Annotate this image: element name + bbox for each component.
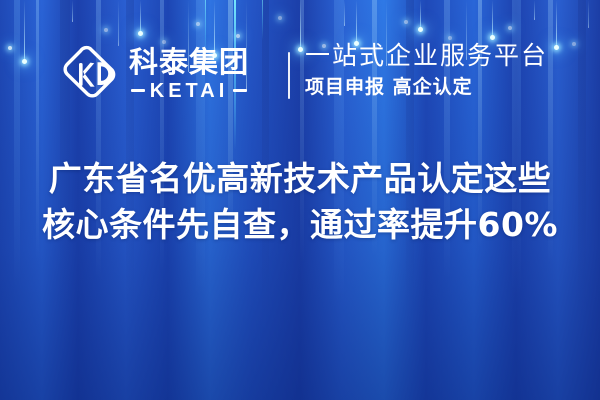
headline-line-1: 广东省名优高新技术产品认定这些 [0, 156, 600, 202]
cyan-accent-line [262, 0, 263, 40]
slogan-main: 一站式企业服务平台 [305, 42, 548, 71]
slogan-block: 一站式企业服务平台 项目申报 高企认定 [305, 42, 548, 99]
brand-name-en: KETAI [150, 81, 229, 101]
banner-header: 科泰集团 KETAI 一站式企业服务平台 项目申报 高企认定 [0, 38, 600, 110]
brand-wordmark: 科泰集团 KETAI [129, 48, 249, 101]
header-divider [288, 52, 290, 99]
wordmark-rule-left [131, 89, 145, 92]
brand-name-cn: 科泰集团 [129, 48, 249, 77]
ketai-kd-monogram-icon [60, 44, 120, 104]
wordmark-rule-right [233, 89, 247, 92]
brand-logo: 科泰集团 KETAI [60, 38, 249, 110]
slogan-sub: 项目申报 高企认定 [305, 76, 548, 99]
headline-line-2: 核心条件先自查，通过率提升60% [0, 202, 600, 248]
brand-name-en-row: KETAI [131, 81, 248, 101]
headline: 广东省名优高新技术产品认定这些 核心条件先自查，通过率提升60% [0, 156, 600, 248]
promo-banner: 科泰集团 KETAI 一站式企业服务平台 项目申报 高企认定 广东省名优高新技术… [0, 0, 600, 400]
